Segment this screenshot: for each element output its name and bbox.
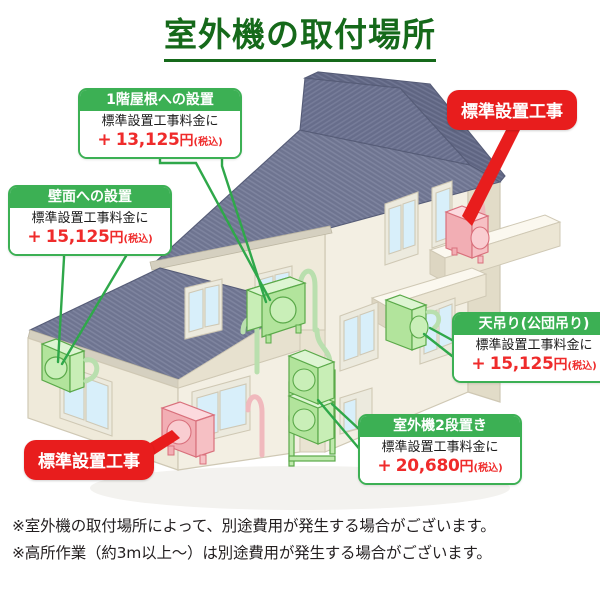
callout-roof-tax: (税込) xyxy=(194,137,223,148)
callout-roof-price: + 13,125円(税込) xyxy=(85,130,235,153)
callout-wall-subtitle: 標準設置工事料金に xyxy=(15,210,165,227)
callout-roof-plus: + xyxy=(97,130,111,150)
page-title-wrap: 室外機の取付場所 xyxy=(0,8,600,62)
callout-stacked-tax: (税込) xyxy=(474,463,503,474)
callout-ceiling-installation[interactable]: 天吊り(公団吊り) 標準設置工事料金に + 15,125円(税込) xyxy=(452,312,600,383)
callout-stacked-body: 標準設置工事料金に + 20,680円(税込) xyxy=(360,437,520,483)
callout-wall-plus: + xyxy=(27,227,41,247)
callout-roof-body: 標準設置工事料金に + 13,125円(税込) xyxy=(80,111,240,157)
callout-ceiling-subtitle: 標準設置工事料金に xyxy=(459,337,600,354)
window xyxy=(185,279,222,339)
callout-roof-header: 1階屋根への設置 xyxy=(80,90,240,111)
callout-ceiling-plus: + xyxy=(471,354,485,374)
callout-ceiling-header: 天吊り(公団吊り) xyxy=(454,314,600,335)
callout-wall-header: 壁面への設置 xyxy=(10,187,170,208)
badge-standard-installation-ground[interactable]: 標準設置工事 xyxy=(24,440,154,480)
footnote-2: ※高所作業（約3m以上～）は別途費用が発生する場合がございます。 xyxy=(12,540,592,567)
callout-wall-price: + 15,125円(税込) xyxy=(15,227,165,250)
callout-ceiling-yen: 円 xyxy=(554,357,568,373)
callout-roof-subtitle: 標準設置工事料金に xyxy=(85,113,235,130)
callout-stacked-yen: 円 xyxy=(460,459,474,475)
window xyxy=(385,192,418,265)
callout-ceiling-amount: 15,125 xyxy=(490,354,554,374)
callout-wall-tax: (税込) xyxy=(124,234,153,245)
callout-stacked-header: 室外機2段置き xyxy=(360,416,520,437)
callout-roof-installation[interactable]: 1階屋根への設置 標準設置工事料金に + 13,125円(税込) xyxy=(78,88,242,159)
badge-standard-installation-balcony[interactable]: 標準設置工事 xyxy=(447,90,577,130)
callout-stacked-subtitle: 標準設置工事料金に xyxy=(365,439,515,456)
callout-ceiling-price: + 15,125円(税込) xyxy=(459,354,600,377)
callout-stacked-price: + 20,680円(税込) xyxy=(365,456,515,479)
callout-roof-yen: 円 xyxy=(180,133,194,149)
callout-wall-body: 標準設置工事料金に + 15,125円(税込) xyxy=(10,208,170,254)
infographic-canvas: 室外機の取付場所 1階屋根への設置 標準設置工事料金に + 13,125円(税込… xyxy=(0,0,600,600)
callout-wall-yen: 円 xyxy=(110,230,124,246)
page-title: 室外機の取付場所 xyxy=(164,8,436,62)
callout-stacked-installation[interactable]: 室外機2段置き 標準設置工事料金に + 20,680円(税込) xyxy=(358,414,522,485)
footnotes: ※室外機の取付場所によって、別途費用が発生する場合がございます。 ※高所作業（約… xyxy=(12,513,592,567)
callout-roof-amount: 13,125 xyxy=(116,130,180,150)
callout-stacked-plus: + xyxy=(377,456,391,476)
callout-wall-amount: 15,125 xyxy=(46,227,110,247)
callout-ceiling-body: 標準設置工事料金に + 15,125円(税込) xyxy=(454,335,600,381)
callout-ceiling-tax: (税込) xyxy=(568,361,597,372)
footnote-1: ※室外機の取付場所によって、別途費用が発生する場合がございます。 xyxy=(12,513,592,540)
callout-stacked-amount: 20,680 xyxy=(396,456,460,476)
callout-wall-installation[interactable]: 壁面への設置 標準設置工事料金に + 15,125円(税込) xyxy=(8,185,172,256)
